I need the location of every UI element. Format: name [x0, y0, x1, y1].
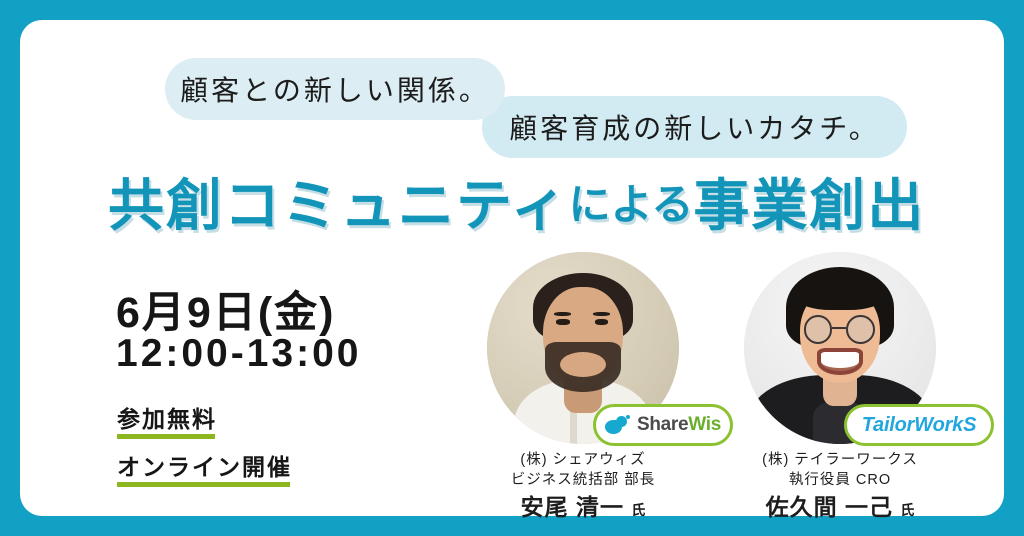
- headline-part-1: 共創コミュニティ: [108, 161, 569, 242]
- photo-brow-right: [593, 312, 610, 316]
- speaker-1-name: 安尾 清一 氏: [458, 492, 708, 525]
- sharewis-logo-text: ShareWis: [637, 414, 721, 436]
- tagline-bubble-2-text: 顧客育成の新しいカタチ。: [509, 107, 880, 147]
- page-title: 共創コミュニティによる事業創出: [108, 168, 968, 234]
- tailorworks-logo-text: TailorWorkS: [862, 414, 977, 437]
- photo-brow-left: [554, 312, 571, 316]
- photo-glasses-right: [846, 315, 875, 344]
- speaker-1-name-suffix: 氏: [631, 502, 645, 518]
- speaker-2-name-suffix: 氏: [900, 502, 914, 518]
- speaker-2-name-text: 佐久間 一己: [766, 494, 893, 520]
- fee-badge: 参加無料: [117, 400, 217, 438]
- sharewis-blob-icon: [605, 415, 631, 435]
- photo-eye-right: [595, 319, 608, 325]
- tagline-bubble-1: 顧客との新しい関係。: [165, 58, 505, 120]
- speaker-2-org: (株) テイラーワークス: [715, 450, 965, 470]
- headline-part-2: による: [569, 171, 694, 232]
- speaker-card-1: ShareWis: [458, 252, 708, 444]
- speaker-1-name-text: 安尾 清一: [521, 494, 624, 520]
- event-date: 6月9日(金): [116, 278, 335, 340]
- speaker-1-role: ビジネス統括部 部長: [458, 470, 708, 490]
- webinar-banner: 顧客との新しい関係。 顧客育成の新しいカタチ。 共創コミュニティによる事業創出 …: [0, 0, 1024, 536]
- tagline-bubble-2: 顧客育成の新しいカタチ。: [482, 96, 907, 158]
- speaker-2-name: 佐久間 一己 氏: [715, 492, 965, 525]
- headline-part-3: 事業創出: [693, 161, 925, 242]
- photo-fringe: [796, 279, 884, 310]
- sharewis-logo-text-b: Wis: [688, 414, 721, 435]
- speaker-card-2: TailorWorkS: [715, 252, 965, 444]
- speaker-1-caption: (株) シェアウィズ ビジネス統括部 部長 安尾 清一 氏: [458, 450, 708, 525]
- photo-glasses-bridge: [832, 327, 845, 329]
- sharewis-logo-text-a: Share: [637, 414, 688, 435]
- format-badge: オンライン開催: [117, 448, 292, 486]
- photo-eye-left: [556, 319, 569, 325]
- speaker-2-caption: (株) テイラーワークス 執行役員 CRO 佐久間 一己 氏: [715, 450, 965, 525]
- photo-chin: [560, 352, 606, 377]
- speaker-1-photo-wrap: ShareWis: [487, 252, 679, 444]
- event-time: 12:00-13:00: [116, 332, 361, 376]
- sharewis-logo: ShareWis: [593, 404, 733, 446]
- banner-inner-panel: 顧客との新しい関係。 顧客育成の新しいカタチ。 共創コミュニティによる事業創出 …: [20, 20, 1004, 516]
- speaker-2-role: 執行役員 CRO: [715, 470, 965, 490]
- speaker-2-photo-wrap: TailorWorkS: [744, 252, 936, 444]
- tailorworks-logo: TailorWorkS: [844, 404, 994, 446]
- speaker-1-org: (株) シェアウィズ: [458, 450, 708, 470]
- tagline-bubble-1-text: 顧客との新しい関係。: [180, 69, 490, 109]
- photo-teeth: [821, 352, 859, 371]
